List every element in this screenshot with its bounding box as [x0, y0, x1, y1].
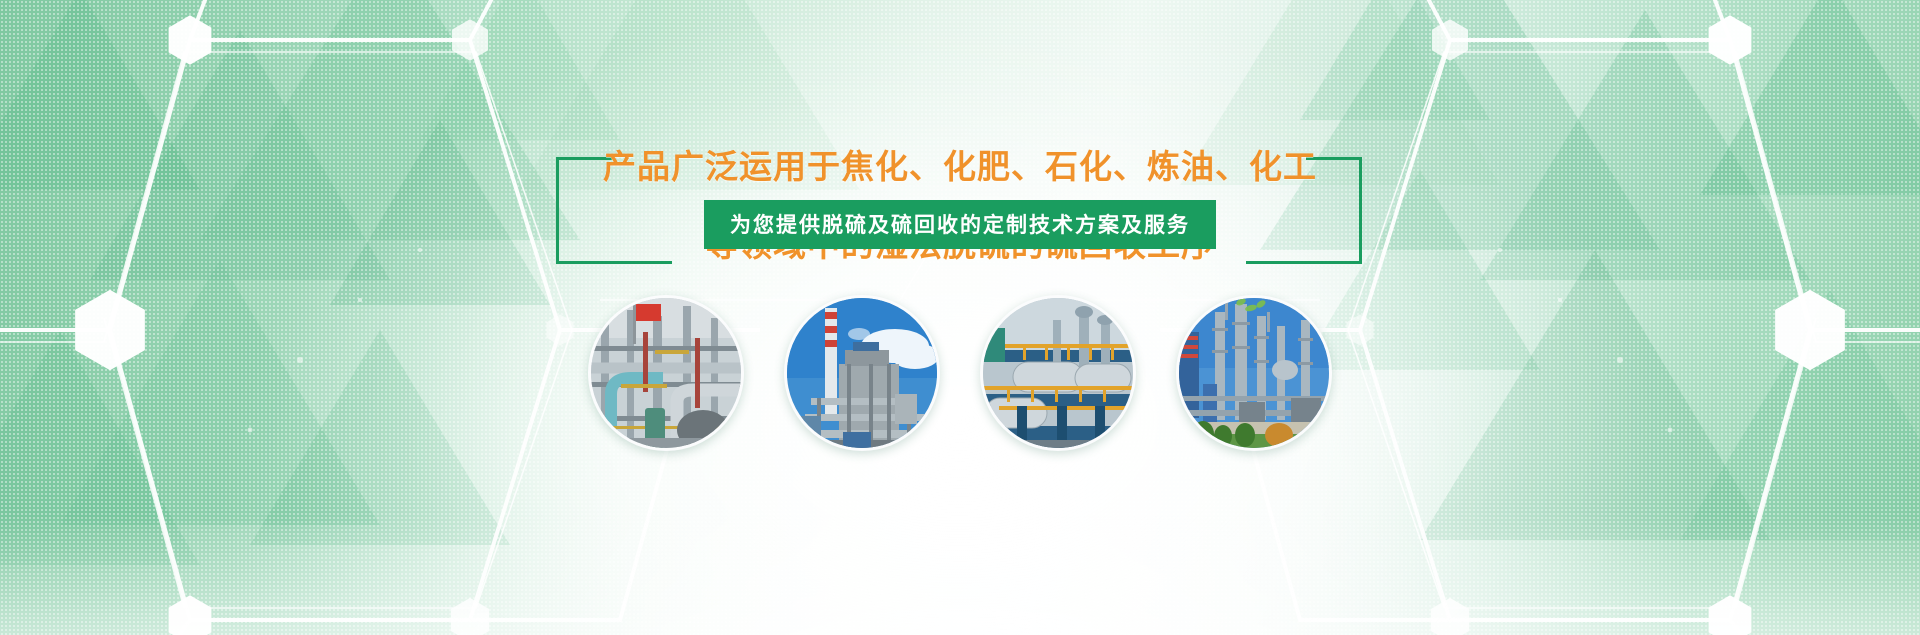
photo-strip [0, 295, 1920, 451]
photo-refinery-horizontal-vessels [980, 295, 1136, 451]
photo-refinery-distillation-columns [1176, 295, 1332, 451]
photo-sulfur-recovery-plant-piping [588, 295, 744, 451]
headline-line-1: 产品广泛运用于焦化、化肥、石化、炼油、化工 [0, 147, 1920, 186]
banner-subtitle-bar: 为您提供脱硫及硫回收的定制技术方案及服务 [704, 200, 1216, 249]
photo-power-plant-chimney [784, 295, 940, 451]
marketing-banner: 产品广泛运用于焦化、化肥、石化、炼油、化工 等领域中的湿法脱硫的硫回收工序 为您… [0, 0, 1920, 635]
